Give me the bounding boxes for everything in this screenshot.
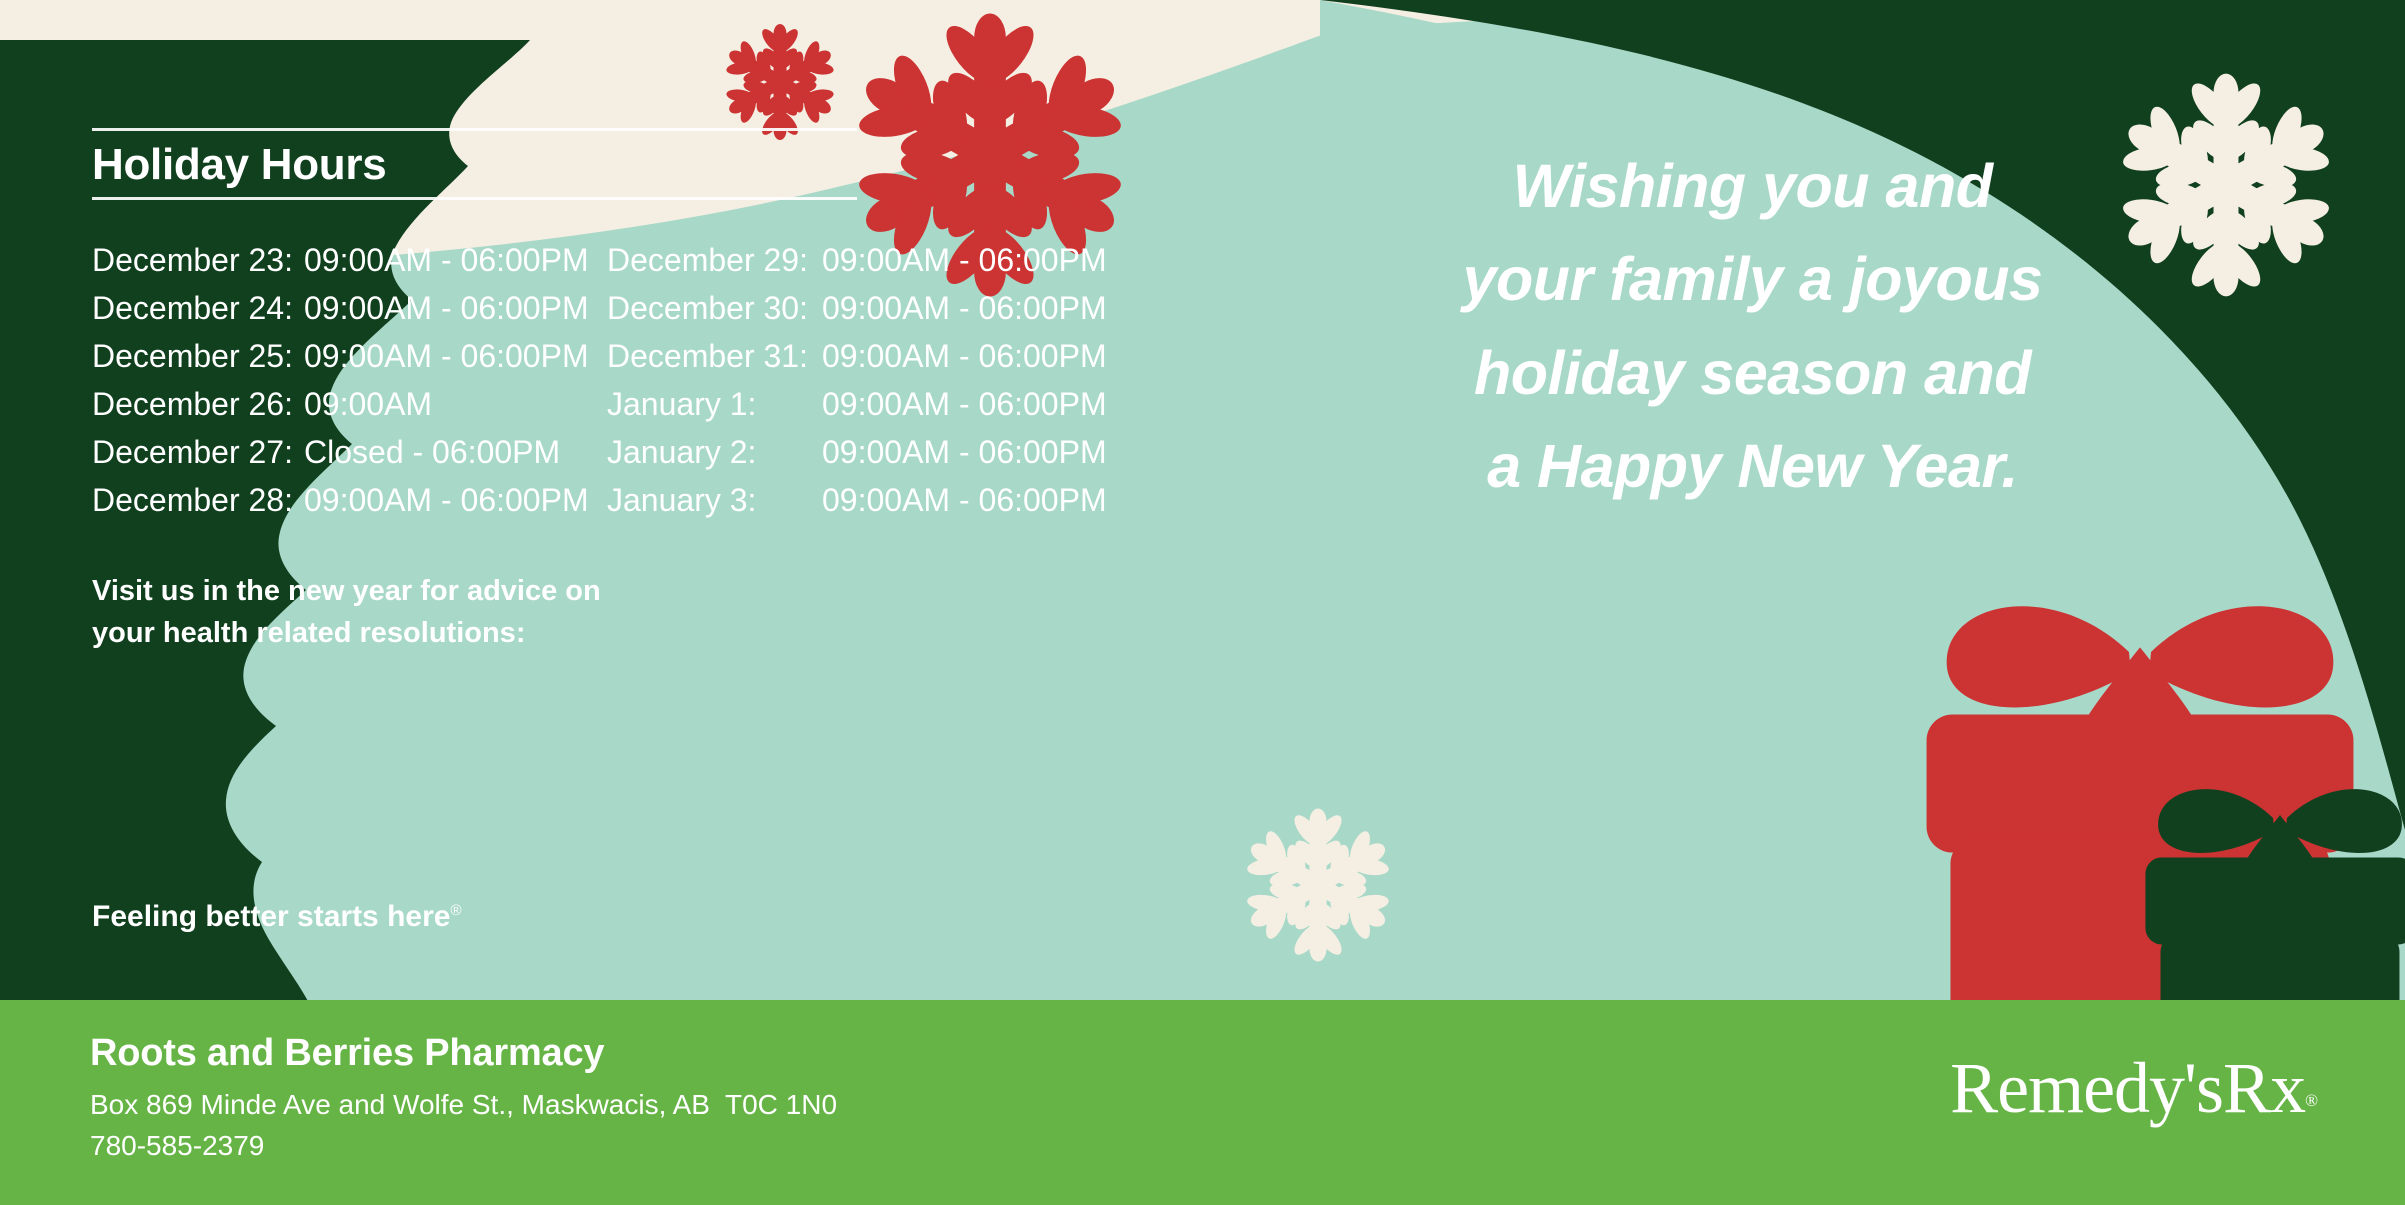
pharmacy-name: Roots and Berries Pharmacy bbox=[90, 1032, 837, 1075]
hours-time-value: 09:00AM - 06:00PM bbox=[822, 386, 1122, 423]
hours-day-label: December 25: bbox=[92, 338, 304, 375]
hours-time-value: 09:00AM - 06:00PM bbox=[304, 482, 604, 519]
hours-column-left: December 23: 09:00AM - 06:00PM December … bbox=[92, 242, 607, 530]
footer-bar: Roots and Berries Pharmacy Box 869 Minde… bbox=[0, 1000, 2405, 1205]
hours-time-value: 09:00AM bbox=[304, 386, 604, 423]
hours-time-value: 09:00AM - 06:00PM bbox=[822, 434, 1122, 471]
visit-message-line-1: Visit us in the new year for advice on bbox=[92, 570, 752, 612]
hours-row: January 3: 09:00AM - 06:00PM bbox=[607, 482, 1122, 530]
hours-day-label: December 26: bbox=[92, 386, 304, 423]
remedysrx-logo: Remedy'sRx® bbox=[1950, 1052, 2317, 1124]
holiday-hours-title: Holiday Hours bbox=[92, 131, 1122, 197]
hours-row: December 27: Closed - 06:00PM bbox=[92, 434, 607, 482]
hours-time-value: 09:00AM - 06:00PM bbox=[822, 290, 1122, 327]
visit-message-block: Visit us in the new year for advice on y… bbox=[92, 570, 752, 655]
hours-day-label: December 23: bbox=[92, 242, 304, 279]
pharmacy-contact-info: Roots and Berries Pharmacy Box 869 Minde… bbox=[90, 1032, 837, 1166]
holiday-hours-banner: Holiday Hours December 23: 09:00AM - 06:… bbox=[0, 0, 2405, 1205]
hours-row: December 29: 09:00AM - 06:00PM bbox=[607, 242, 1122, 290]
hours-day-label: January 3: bbox=[607, 482, 822, 519]
hours-day-label: December 31: bbox=[607, 338, 822, 375]
hours-column-right: December 29: 09:00AM - 06:00PM December … bbox=[607, 242, 1122, 530]
hours-grid: December 23: 09:00AM - 06:00PM December … bbox=[92, 242, 1122, 530]
hours-row: January 1: 09:00AM - 06:00PM bbox=[607, 386, 1122, 434]
hours-day-label: December 27: bbox=[92, 434, 304, 471]
registered-mark-icon: ® bbox=[450, 902, 461, 919]
hours-time-value: 09:00AM - 06:00PM bbox=[822, 338, 1122, 375]
hours-day-label: December 24: bbox=[92, 290, 304, 327]
pharmacy-address: Box 869 Minde Ave and Wolfe St., Maskwac… bbox=[90, 1085, 837, 1126]
hours-day-label: January 2: bbox=[607, 434, 822, 471]
hours-row: December 24: 09:00AM - 06:00PM bbox=[92, 290, 607, 338]
divider-bottom bbox=[92, 197, 857, 200]
hours-row: January 2: 09:00AM - 06:00PM bbox=[607, 434, 1122, 482]
hours-day-label: December 29: bbox=[607, 242, 822, 279]
hours-day-label: January 1: bbox=[607, 386, 822, 423]
holiday-hours-panel: Holiday Hours December 23: 09:00AM - 06:… bbox=[92, 128, 1122, 530]
brand-name: Remedy'sRx bbox=[1950, 1048, 2305, 1128]
greeting-line-4: a Happy New Year. bbox=[1380, 420, 2125, 513]
hours-day-label: December 28: bbox=[92, 482, 304, 519]
hours-row: December 25: 09:00AM - 06:00PM bbox=[92, 338, 607, 386]
hours-row: December 26: 09:00AM bbox=[92, 386, 607, 434]
hours-time-value: 09:00AM - 06:00PM bbox=[822, 482, 1122, 519]
hours-time-value: 09:00AM - 06:00PM bbox=[822, 242, 1122, 279]
hours-row: December 30: 09:00AM - 06:00PM bbox=[607, 290, 1122, 338]
registered-mark-icon: ® bbox=[2305, 1091, 2317, 1110]
greeting-line-1: Wishing you and bbox=[1380, 140, 2125, 233]
pharmacy-phone[interactable]: 780-585-2379 bbox=[90, 1126, 837, 1167]
hours-time-value: Closed - 06:00PM bbox=[304, 434, 604, 471]
hours-row: December 28: 09:00AM - 06:00PM bbox=[92, 482, 607, 530]
hours-time-value: 09:00AM - 06:00PM bbox=[304, 242, 604, 279]
hours-row: December 23: 09:00AM - 06:00PM bbox=[92, 242, 607, 290]
hours-row: December 31: 09:00AM - 06:00PM bbox=[607, 338, 1122, 386]
greeting-line-2: your family a joyous bbox=[1380, 233, 2125, 326]
hours-time-value: 09:00AM - 06:00PM bbox=[304, 290, 604, 327]
greeting-message: Wishing you and your family a joyous hol… bbox=[1380, 140, 2125, 513]
hours-time-value: 09:00AM - 06:00PM bbox=[304, 338, 604, 375]
hours-day-label: December 30: bbox=[607, 290, 822, 327]
greeting-line-3: holiday season and bbox=[1380, 327, 2125, 420]
tagline: Feeling better starts here® bbox=[92, 900, 462, 934]
divider-top bbox=[92, 128, 857, 131]
tagline-text: Feeling better starts here bbox=[92, 900, 450, 933]
visit-message-line-2: your health related resolutions: bbox=[92, 612, 752, 654]
